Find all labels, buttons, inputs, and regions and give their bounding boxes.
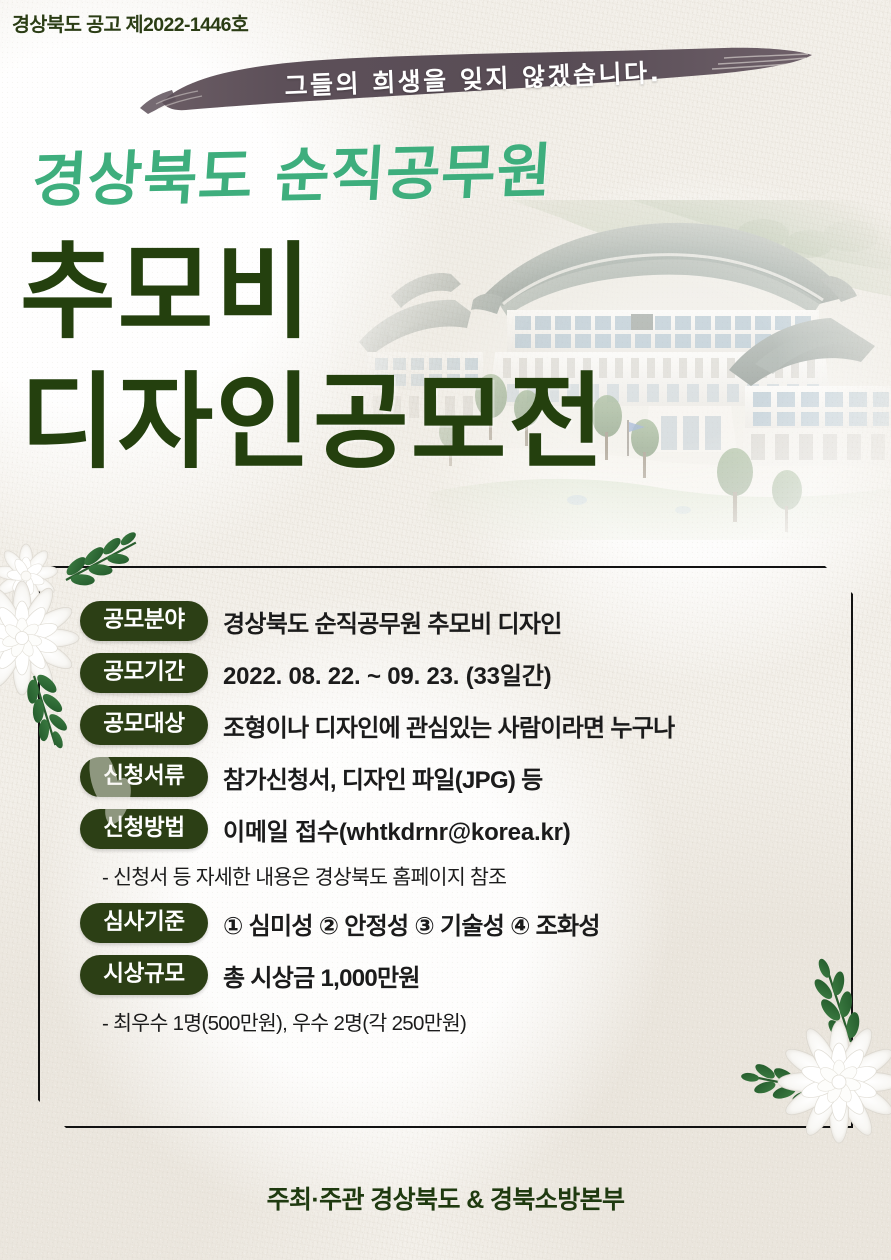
label-eligibility: 공모대상 bbox=[80, 705, 208, 745]
brush-banner: 그들의 희생을 잊지 않겠습니다. bbox=[128, 42, 818, 114]
note-application: - 신청서 등 자세한 내용은 경상북도 홈페이지 참조 bbox=[102, 860, 850, 890]
info-row-period: 공모기간 2022. 08. 22. ~ 09. 23. (33일간) bbox=[80, 652, 850, 694]
info-row-howto: 신청방법 이메일 접수(whtkdrnr@korea.kr) bbox=[80, 808, 850, 850]
label-criteria: 심사기준 bbox=[80, 903, 208, 943]
label-field: 공모분야 bbox=[80, 601, 208, 641]
value-documents: 참가신청서, 디자인 파일(JPG) 등 bbox=[223, 760, 543, 795]
note-prize-breakdown: - 최우수 1명(500만원), 우수 2명(각 250만원) bbox=[102, 1006, 850, 1036]
info-rows: 공모분야 경상북도 순직공무원 추모비 디자인 공모기간 2022. 08. 2… bbox=[80, 600, 850, 1048]
info-row-criteria: 심사기준 ① 심미성 ② 안정성 ③ 기술성 ④ 조화성 bbox=[80, 902, 850, 944]
notice-number: 경상북도 공고 제2022-1446호 bbox=[12, 8, 248, 37]
headline-line-1: 추모비 bbox=[20, 240, 313, 344]
info-row-prize: 시상규모 총 시상금 1,000만원 bbox=[80, 954, 850, 996]
info-row-documents: 신청서류 참가신청서, 디자인 파일(JPG) 등 bbox=[80, 756, 850, 798]
info-row-field: 공모분야 경상북도 순직공무원 추모비 디자인 bbox=[80, 600, 850, 642]
value-prize: 총 시상금 1,000만원 bbox=[223, 958, 420, 993]
poster-root: 경상북도 공고 제2022-1446호 bbox=[0, 0, 891, 1260]
value-period: 2022. 08. 22. ~ 09. 23. (33일간) bbox=[223, 656, 551, 691]
value-field: 경상북도 순직공무원 추모비 디자인 bbox=[223, 604, 562, 639]
label-period: 공모기간 bbox=[80, 653, 208, 693]
value-eligibility: 조형이나 디자인에 관심있는 사람이라면 누구나 bbox=[223, 708, 674, 743]
footer-organizers: 주최·주관 경상북도 & 경북소방본부 bbox=[0, 1180, 891, 1216]
headline-line-2: 디자인공모전 bbox=[20, 370, 606, 474]
label-prize: 시상규모 bbox=[80, 955, 208, 995]
label-documents: 신청서류 bbox=[80, 757, 208, 797]
info-row-eligibility: 공모대상 조형이나 디자인에 관심있는 사람이라면 누구나 bbox=[80, 704, 850, 746]
value-criteria: ① 심미성 ② 안정성 ③ 기술성 ④ 조화성 bbox=[223, 906, 600, 941]
value-howto-email: 이메일 접수(whtkdrnr@korea.kr) bbox=[223, 812, 571, 847]
headline-handwritten: 경상북도 순직공무원 bbox=[30, 123, 556, 218]
label-howto: 신청방법 bbox=[80, 809, 208, 849]
